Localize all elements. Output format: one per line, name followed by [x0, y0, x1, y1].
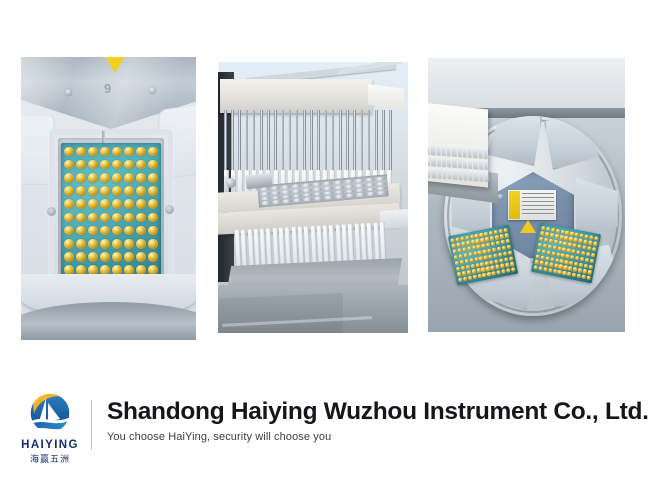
microplate-well — [100, 239, 110, 249]
microplate-well — [112, 239, 122, 249]
microplate-well — [100, 173, 110, 183]
microplate-well — [100, 226, 110, 236]
microplate-well — [498, 228, 503, 233]
deep-well — [324, 195, 334, 200]
microplate-well — [538, 266, 543, 271]
microplate-well — [100, 160, 110, 170]
module-tip — [447, 157, 452, 168]
microplate-well — [88, 226, 98, 236]
microplate-well — [64, 186, 74, 196]
microplate-well — [593, 241, 598, 246]
deep-well — [344, 179, 354, 184]
warning-triangle-icon — [102, 57, 128, 73]
deep-well — [302, 188, 312, 193]
microplate-well — [506, 245, 511, 250]
deep-well — [334, 185, 344, 190]
label-text-lines — [522, 193, 554, 217]
magnetic-rod — [303, 110, 306, 176]
deep-well — [355, 188, 365, 193]
tray-clip — [47, 207, 56, 216]
microplate-well — [88, 173, 98, 183]
microplate-well — [100, 199, 110, 209]
photo-rod-comb[interactable] — [218, 62, 408, 333]
deep-well — [334, 194, 344, 199]
instrument-floor-step — [218, 293, 343, 333]
magnetic-rod — [289, 110, 292, 176]
microplate-well — [555, 228, 560, 233]
module-tip — [431, 144, 436, 155]
module-tip — [428, 167, 431, 178]
microplate-well — [64, 213, 74, 223]
deep-well — [312, 182, 322, 187]
microplate-well — [592, 247, 597, 252]
deep-well — [313, 187, 323, 192]
magnetic-rod — [317, 110, 320, 176]
microplate-well — [148, 226, 158, 236]
microplate-well — [100, 186, 110, 196]
microplate-well — [543, 267, 548, 272]
magnetic-rod — [346, 110, 349, 176]
microplate-well — [581, 251, 586, 256]
microplate-well — [64, 147, 74, 157]
deep-well — [281, 190, 291, 195]
microplate-well — [76, 186, 86, 196]
microplate-well — [581, 275, 586, 280]
magnetic-rod — [339, 110, 342, 176]
tip-comb-module-tips — [428, 144, 489, 182]
photo-plate-holder[interactable]: 9 — [21, 57, 196, 340]
deep-well — [313, 196, 323, 201]
rod-head-housing — [220, 79, 372, 113]
deep-well — [366, 192, 376, 197]
microplate-well — [148, 199, 158, 209]
module-tip — [452, 157, 457, 168]
microplate-well — [124, 226, 134, 236]
microplate-well — [546, 250, 551, 255]
module-tip — [468, 158, 473, 169]
microplate-well — [124, 147, 134, 157]
microplate-well — [112, 252, 122, 262]
microplate-well — [148, 147, 158, 157]
deep-well — [323, 186, 333, 191]
deep-well — [344, 184, 354, 189]
magnetic-rod — [231, 110, 234, 176]
microplate-well — [547, 244, 552, 249]
brand-text-block: Shandong Haiying Wuzhou Instrument Co., … — [107, 399, 647, 443]
deep-well — [271, 200, 281, 205]
microplate-well — [124, 213, 134, 223]
microplate-well — [124, 173, 134, 183]
microplate-well — [541, 249, 546, 254]
microplate-well — [580, 257, 585, 262]
microplate-well — [544, 238, 549, 243]
deep-well — [365, 182, 375, 187]
microplate-well — [88, 186, 98, 196]
microplate-well — [505, 239, 510, 244]
microplate-well — [88, 160, 98, 170]
module-tip — [484, 160, 489, 171]
microplate-well — [148, 173, 158, 183]
deep-well — [375, 177, 385, 182]
magnetic-rod — [310, 110, 313, 176]
deep-well — [291, 189, 301, 194]
microplate-well — [553, 240, 558, 245]
microplate-well — [548, 239, 553, 244]
microplate-well — [468, 252, 473, 257]
microplate-well — [64, 199, 74, 209]
tray-clip — [165, 205, 174, 214]
microplate-well — [88, 213, 98, 223]
instrument-base — [21, 302, 196, 340]
photo-carousel[interactable] — [428, 58, 625, 332]
deep-well — [281, 185, 291, 190]
microplate-well — [148, 186, 158, 196]
deep-well — [302, 183, 312, 188]
deep-well — [345, 189, 355, 194]
microplate-well — [124, 186, 134, 196]
microplate-well — [552, 245, 557, 250]
microplate-well — [112, 226, 122, 236]
microplate-well — [467, 246, 472, 251]
microplate-well — [148, 252, 158, 262]
microplate-well — [507, 250, 512, 255]
product-photo-strip: 9 — [0, 0, 650, 382]
microplate-well — [588, 264, 593, 269]
magnetic-rod — [274, 110, 277, 176]
magnetic-rod-array — [224, 110, 392, 176]
plate-clamp — [245, 173, 272, 190]
module-tip — [442, 168, 447, 179]
microplate-well — [471, 269, 476, 274]
microplate-well — [464, 259, 469, 264]
deep-well — [354, 178, 364, 183]
microplate-well — [549, 262, 554, 267]
module-tip — [467, 147, 472, 158]
microplate-well — [136, 186, 146, 196]
deep-well — [261, 201, 271, 206]
module-tip — [446, 145, 451, 156]
microplate-well — [136, 160, 146, 170]
module-tip — [463, 170, 468, 181]
brand-divider — [91, 400, 92, 450]
microplate-well — [76, 173, 86, 183]
microplate-well — [100, 252, 110, 262]
microplate-well — [589, 235, 594, 240]
microplate-well — [466, 241, 471, 246]
deep-well — [271, 195, 281, 200]
microplate-well — [587, 246, 592, 251]
microplate-well — [576, 274, 581, 279]
microplate-well — [100, 147, 110, 157]
hub-screw — [498, 194, 503, 199]
deep-well — [365, 177, 375, 182]
deep-well — [270, 191, 280, 196]
microplate-well — [460, 236, 465, 241]
module-tip — [431, 156, 436, 167]
module-tip — [452, 169, 457, 180]
microplate-well — [586, 252, 591, 257]
microplate-well — [124, 252, 134, 262]
module-tip — [468, 170, 473, 181]
company-name: Shandong Haiying Wuzhou Instrument Co., … — [107, 399, 647, 426]
module-tip — [478, 147, 483, 158]
hub-warning-triangle-icon — [520, 220, 536, 233]
microplate-well — [76, 226, 86, 236]
magnetic-rod — [296, 110, 299, 176]
microplate-well — [112, 147, 122, 157]
module-tip — [462, 146, 467, 157]
deep-well — [366, 187, 376, 192]
deep-well — [292, 193, 302, 198]
module-tip — [478, 159, 483, 170]
microplate-well — [136, 173, 146, 183]
deep-well — [345, 194, 355, 199]
microplate-well — [510, 262, 515, 267]
adjust-knob — [226, 178, 236, 188]
microplate-well — [554, 234, 559, 239]
magnetic-rod — [382, 110, 385, 176]
microplate-well — [589, 259, 594, 264]
deep-well — [376, 181, 386, 186]
microplate-well — [509, 256, 514, 261]
deep-well — [377, 191, 387, 196]
microplate-well — [503, 227, 508, 232]
microplate-well — [88, 239, 98, 249]
module-tip — [436, 145, 441, 156]
magnetic-rod — [246, 110, 249, 176]
label-yellow-stripe — [509, 191, 520, 219]
microplate-well — [64, 173, 74, 183]
microplate-well — [112, 173, 122, 183]
module-tip — [442, 157, 447, 168]
turntable-screw — [480, 302, 485, 307]
logo-chinese-wordmark: 海赢五洲 — [14, 452, 86, 465]
microplate-well — [112, 199, 122, 209]
deep-well — [292, 198, 302, 203]
deep-well — [334, 190, 344, 195]
microplate-well — [136, 226, 146, 236]
microplate-well — [112, 160, 122, 170]
magnetic-rod — [332, 110, 335, 176]
microplate-well — [88, 252, 98, 262]
deep-well — [333, 180, 343, 185]
microplate-well — [88, 199, 98, 209]
microplate-well — [76, 252, 86, 262]
deck-screw — [65, 89, 72, 96]
deep-well — [260, 191, 270, 196]
magnetic-rod — [224, 110, 227, 176]
microplate-well — [124, 239, 134, 249]
module-tip — [463, 158, 468, 169]
microplate-well — [148, 239, 158, 249]
magnetic-rod — [389, 110, 392, 176]
turntable-screw — [586, 300, 591, 305]
microplate-well — [500, 240, 505, 245]
microplate-well — [587, 270, 592, 275]
microplate-well — [136, 147, 146, 157]
microplate-well — [76, 239, 86, 249]
module-tip — [428, 155, 430, 166]
magnetic-rod — [238, 110, 241, 176]
microplate-well — [506, 268, 511, 273]
microplate-well — [76, 213, 86, 223]
module-tip — [483, 148, 488, 159]
microplate-well — [64, 226, 74, 236]
magnetic-rod — [353, 110, 356, 176]
module-tip — [473, 170, 478, 181]
magnetic-rod — [368, 110, 371, 176]
chamber-back-wall — [428, 58, 625, 112]
microplate-well — [100, 213, 110, 223]
module-tip — [484, 171, 489, 182]
microplate-well — [585, 258, 590, 263]
module-tip — [441, 145, 446, 156]
microplate-well — [586, 276, 591, 281]
deep-well — [282, 199, 292, 204]
microplate-well — [505, 263, 510, 268]
deep-well — [355, 183, 365, 188]
microplate-well — [504, 257, 509, 262]
deep-well — [303, 197, 313, 202]
microplate-well — [470, 263, 475, 268]
microplate-well — [511, 267, 516, 272]
company-logo[interactable]: HAIYING 海赢五洲 — [14, 392, 86, 465]
microplate-well — [64, 239, 74, 249]
microplate-well — [455, 237, 460, 242]
microplate-well — [64, 252, 74, 262]
microplate-well — [502, 246, 507, 251]
deep-well — [291, 184, 301, 189]
microplate-well — [148, 160, 158, 170]
microplate-well — [594, 236, 599, 241]
microplate-well — [136, 213, 146, 223]
microplate-well — [551, 251, 556, 256]
module-tip — [436, 156, 441, 167]
deep-well — [313, 192, 323, 197]
microplate-well — [461, 242, 466, 247]
microplate-well — [136, 252, 146, 262]
module-tip — [457, 146, 462, 157]
microplate-well — [462, 247, 467, 252]
module-tip — [479, 171, 484, 182]
microplate-well — [493, 229, 498, 234]
magnetic-rod — [361, 110, 364, 176]
haiying-sailboat-emblem-icon — [22, 392, 78, 438]
module-tip — [452, 146, 457, 157]
module-tip — [437, 168, 442, 179]
magnetic-rod — [267, 110, 270, 176]
microplate-well — [463, 253, 468, 258]
microplate-well — [469, 258, 474, 263]
magnetic-rod — [282, 110, 285, 176]
microplate-well — [543, 244, 548, 249]
module-tip — [473, 147, 478, 158]
hub-specification-label — [508, 190, 556, 220]
microplate-well — [465, 264, 470, 269]
microplate-well — [76, 147, 86, 157]
deck-screw — [149, 87, 156, 94]
deck-marking-label: 9 — [104, 81, 111, 96]
microplate-well — [504, 233, 509, 238]
microplate-well — [76, 160, 86, 170]
magnetic-rod — [325, 110, 328, 176]
microplate-well — [548, 268, 553, 273]
magnetic-rod — [253, 110, 256, 176]
microplate-well — [468, 276, 473, 281]
microplate-well — [136, 239, 146, 249]
microplate-well — [76, 199, 86, 209]
deep-well — [323, 181, 333, 186]
microplate-well — [136, 199, 146, 209]
module-tip — [447, 169, 452, 180]
magnetic-rod — [375, 110, 378, 176]
microplate-well — [582, 245, 587, 250]
deep-well — [324, 191, 334, 196]
deep-well — [302, 192, 312, 197]
microplate-well — [148, 213, 158, 223]
microplate-well — [112, 186, 122, 196]
microplate-well — [124, 160, 134, 170]
module-tip — [457, 158, 462, 169]
microplate-well — [499, 234, 504, 239]
microplate-well — [124, 199, 134, 209]
deep-well — [376, 186, 386, 191]
module-tip — [431, 168, 436, 179]
company-tagline: You choose HaiYing, security will choose… — [107, 431, 647, 443]
logo-wordmark: HAIYING — [14, 439, 86, 451]
microplate-well — [590, 253, 595, 258]
microplate-well — [112, 213, 122, 223]
microplate-well — [545, 256, 550, 261]
microplate-well — [88, 147, 98, 157]
microplate-well — [472, 275, 477, 280]
microplate-well — [503, 251, 508, 256]
magnetic-rod — [260, 110, 263, 176]
microplate-well — [467, 270, 472, 275]
microplate-well — [550, 257, 555, 262]
microplate-well — [551, 227, 556, 232]
deep-well — [356, 193, 366, 198]
microplate-well — [465, 235, 470, 240]
microplate-well — [64, 160, 74, 170]
deep-well — [281, 194, 291, 199]
microplate-well — [583, 263, 588, 268]
module-tip — [473, 159, 478, 170]
module-tip — [458, 169, 463, 180]
